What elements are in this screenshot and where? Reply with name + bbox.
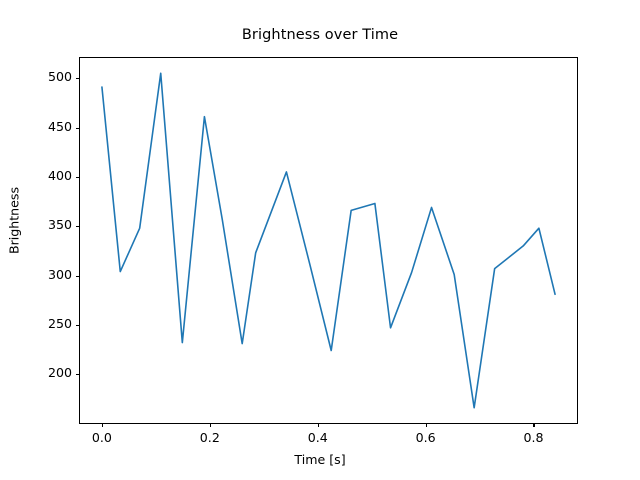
y-tick-mark (76, 78, 80, 79)
x-tick-mark (533, 424, 534, 428)
x-tick-mark (102, 424, 103, 428)
x-tick-label: 0.8 (503, 430, 563, 445)
y-tick-mark (76, 177, 80, 178)
y-tick-mark (76, 226, 80, 227)
y-axis-label: Brightness (7, 121, 22, 321)
x-axis-label: Time [s] (0, 452, 640, 467)
chart-title: Brightness over Time (0, 27, 640, 43)
y-tick-label: 300 (48, 267, 72, 282)
y-tick-label: 500 (48, 69, 72, 84)
x-tick-mark (426, 424, 427, 428)
x-tick-mark (210, 424, 211, 428)
x-tick-label: 0.2 (180, 430, 240, 445)
y-tick-label: 200 (48, 365, 72, 380)
x-tick-label: 0.6 (396, 430, 456, 445)
y-tick-mark (76, 374, 80, 375)
plot-area (79, 57, 578, 424)
y-tick-label: 250 (48, 316, 72, 331)
brightness-line-series (102, 73, 555, 407)
y-tick-label: 350 (48, 217, 72, 232)
x-tick-mark (318, 424, 319, 428)
y-tick-mark (76, 325, 80, 326)
y-tick-label: 400 (48, 168, 72, 183)
figure-canvas: Brightness over Time 2002503003504004505… (0, 0, 640, 480)
y-tick-mark (76, 276, 80, 277)
y-tick-mark (76, 128, 80, 129)
x-tick-label: 0.0 (72, 430, 132, 445)
x-tick-label: 0.4 (288, 430, 348, 445)
y-tick-label: 450 (48, 119, 72, 134)
